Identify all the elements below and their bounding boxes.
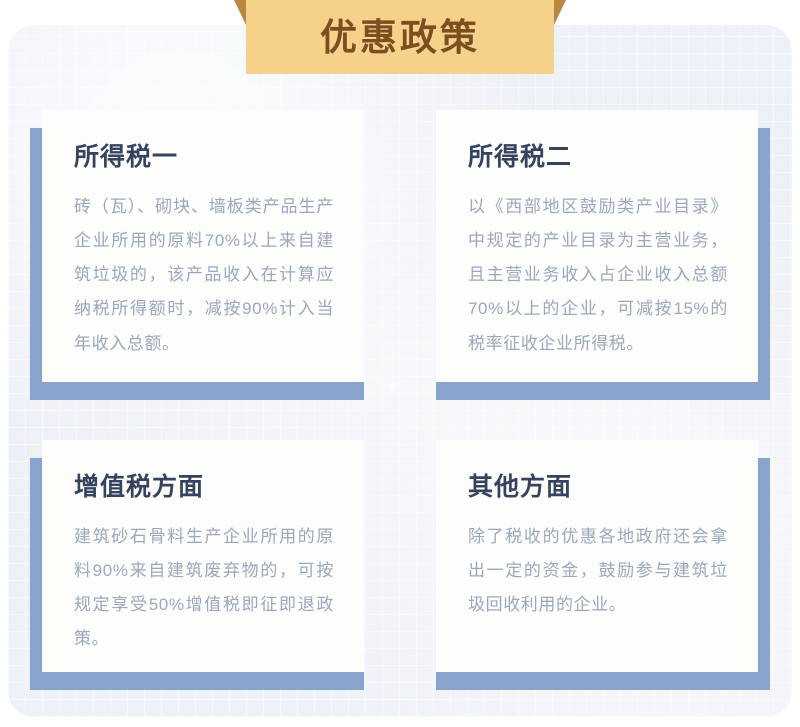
policy-card-other[interactable]: 其他方面 除了税收的优惠各地政府还会拿出一定的资金，鼓励参与建筑垃圾回收利用的企… [436,440,758,672]
card-shadow-vat [30,458,42,690]
card-grid: 所得税一 砖（瓦）、砌块、墙板类产品生产企业所用的原料70%以上来自建筑垃圾的，… [0,0,800,727]
card-title: 其他方面 [468,474,728,502]
card-body: 以《西部地区鼓励类产业目录》中规定的产业目录为主营业务，且主营业务收入占企业收入… [468,190,728,362]
ribbon-fold-right-icon [553,0,566,27]
card-title: 增值税方面 [74,474,334,502]
card-shadow-income-tax-one [30,382,364,400]
card-body: 砖（瓦）、砌块、墙板类产品生产企业所用的原料70%以上来自建筑垃圾的，该产品收入… [74,190,334,362]
infographic-root: 所得税一 砖（瓦）、砌块、墙板类产品生产企业所用的原料70%以上来自建筑垃圾的，… [0,0,800,727]
policy-card-income-tax-two[interactable]: 所得税二 以《西部地区鼓励类产业目录》中规定的产业目录为主营业务，且主营业务收入… [436,110,758,382]
card-shadow-other [436,672,770,690]
card-body: 除了税收的优惠各地政府还会拿出一定的资金，鼓励参与建筑垃圾回收利用的企业。 [468,520,728,623]
policy-card-income-tax-one[interactable]: 所得税一 砖（瓦）、砌块、墙板类产品生产企业所用的原料70%以上来自建筑垃圾的，… [42,110,364,382]
card-shadow-vat [30,672,364,690]
card-shadow-income-tax-one [30,128,42,400]
ribbon-body: 优惠政策 [246,0,554,74]
page-title: 优惠政策 [320,19,480,56]
card-title: 所得税二 [468,144,728,172]
title-ribbon: 优惠政策 [234,0,566,74]
card-shadow-income-tax-two [436,382,770,400]
card-body: 建筑砂石骨料生产企业所用的原料90%来自建筑废弃物的，可按规定享受50%增值税即… [74,520,334,657]
policy-card-vat[interactable]: 增值税方面 建筑砂石骨料生产企业所用的原料90%来自建筑废弃物的，可按规定享受5… [42,440,364,672]
card-shadow-other [758,458,770,690]
card-title: 所得税一 [74,144,334,172]
card-shadow-income-tax-two [758,128,770,400]
